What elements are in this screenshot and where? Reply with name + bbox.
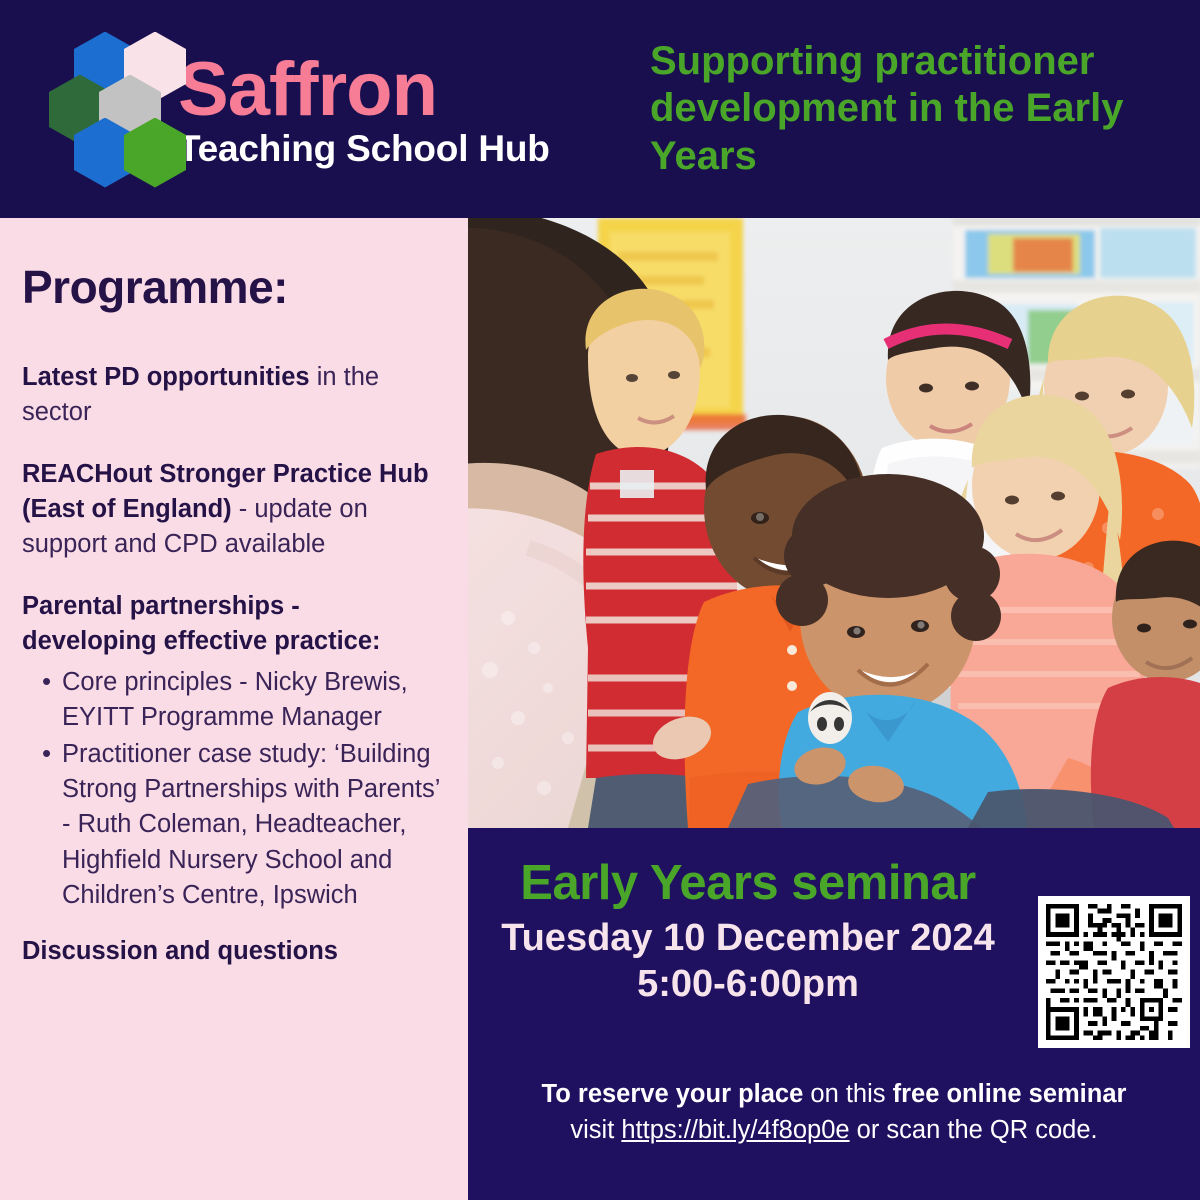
seminar-time: 5:00-6:00pm — [468, 962, 1028, 1008]
logo-wordmark: Saffron Teaching School Hub — [178, 52, 550, 167]
qr-code-icon[interactable] — [1038, 896, 1190, 1048]
programme-item-1: Latest PD opportunities in the sector — [22, 360, 440, 429]
programme-panel: Programme: Latest PD opportunities in th… — [0, 218, 468, 1200]
programme-item-1-bold: Latest PD opportunities — [22, 363, 310, 391]
programme-item-3-heading: Parental partnerships - developing effec… — [22, 589, 440, 658]
list-item: Core principles - Nicky Brewis, EYITT Pr… — [22, 665, 440, 735]
programme-item-2: REACHout Stronger Practice Hub (East of … — [22, 457, 440, 561]
list-item: Practitioner case study: ‘Building Stron… — [22, 737, 440, 913]
seminar-title: Early Years seminar — [468, 858, 1028, 909]
logo-tagline: Teaching School Hub — [178, 130, 550, 167]
reserve-bold-1: To reserve your place — [542, 1080, 804, 1108]
logo-brand-name: Saffron — [178, 52, 550, 128]
seminar-date: Tuesday 10 December 2024 — [468, 915, 1028, 961]
reserve-mid: on this — [803, 1080, 892, 1108]
programme-closing-item: Discussion and questions — [22, 937, 440, 966]
reserve-visit-label: visit — [570, 1116, 621, 1144]
programme-title: Programme: — [22, 260, 440, 314]
seminar-details: Early Years seminar Tuesday 10 December … — [468, 858, 1028, 1007]
reservation-link[interactable]: https://bit.ly/4f8op0e — [621, 1116, 849, 1144]
header-tagline-heading: Supporting practitioner development in t… — [650, 38, 1190, 180]
reserve-tail: or scan the QR code. — [850, 1116, 1098, 1144]
seminar-panel: Early Years seminar Tuesday 10 December … — [468, 828, 1200, 1200]
reserve-bold-2: free online seminar — [893, 1080, 1127, 1108]
programme-bullet-list: Core principles - Nicky Brewis, EYITT Pr… — [22, 665, 440, 913]
reservation-instructions: To reserve your place on this free onlin… — [468, 1076, 1200, 1148]
poster-root: Saffron Teaching School Hub Supporting p… — [0, 0, 1200, 1200]
classroom-photo — [468, 218, 1200, 828]
poster-header: Saffron Teaching School Hub Supporting p… — [0, 0, 1200, 218]
saffron-logo: Saffron Teaching School Hub — [40, 32, 640, 187]
hexagon-logo-icon — [40, 32, 170, 187]
